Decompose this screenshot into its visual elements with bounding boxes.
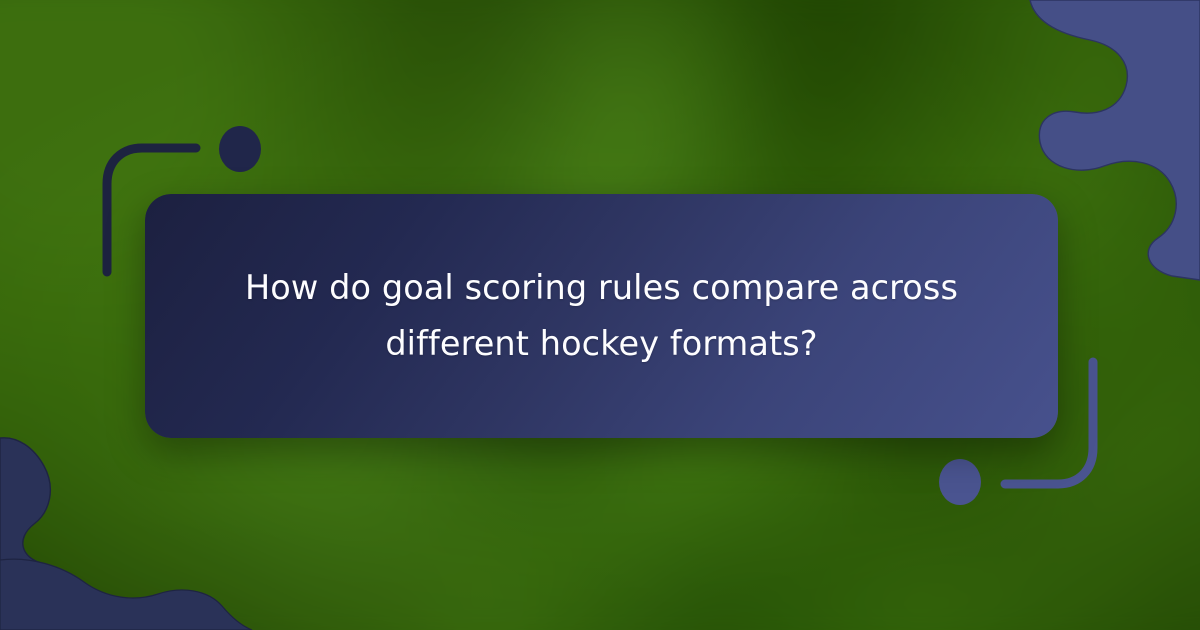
accent-dot-bottom-right <box>939 459 981 505</box>
accent-dot-top-left <box>219 126 261 172</box>
social-card-canvas: How do goal scoring rules compare across… <box>0 0 1200 630</box>
quote-card: How do goal scoring rules compare across… <box>145 194 1058 438</box>
quote-text: How do goal scoring rules compare across… <box>222 260 982 372</box>
quote-line-2: different hockey formats? <box>385 324 817 363</box>
quote-line-1: How do goal scoring rules compare across <box>245 268 958 307</box>
